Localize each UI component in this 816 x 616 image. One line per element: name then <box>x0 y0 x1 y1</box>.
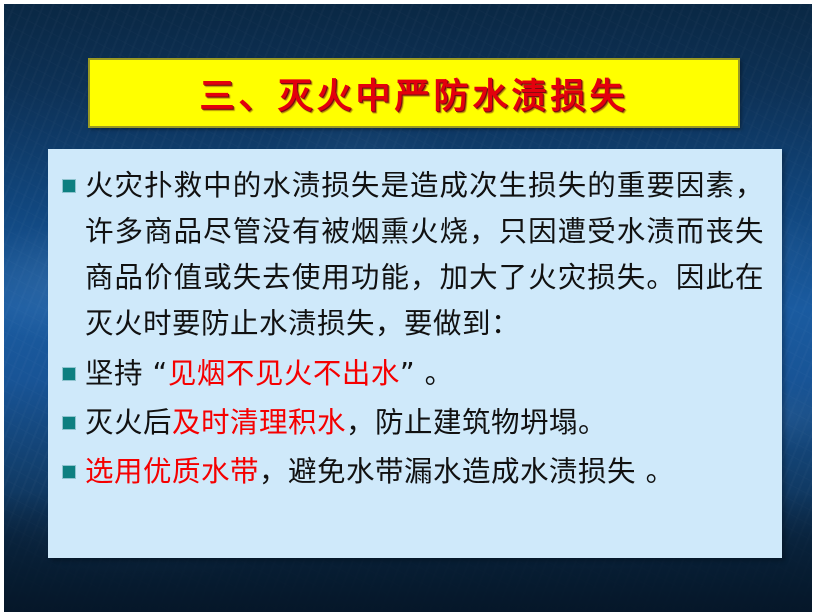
bullet-3-highlight: 及时清理积水 <box>172 406 346 439</box>
presentation-slide: 三、灭火中严防水渍损失 火灾扑救中的水渍损失是造成次生损失的重要因素，许多商品尽… <box>0 0 816 616</box>
bullet-item-3: 灭火后及时清理积水，防止建筑物坍塌。 <box>54 400 764 449</box>
bullet-item-2-text: 坚持 “见烟不见火不出水” 。 <box>85 351 764 397</box>
square-bullet-icon <box>62 367 76 381</box>
bullet-4-suffix: ，避免水带漏水造成水渍损失 。 <box>259 455 675 488</box>
slide-title-banner: 三、灭火中严防水渍损失 <box>88 58 740 128</box>
bullet-3-prefix: 灭火后 <box>85 406 172 439</box>
square-bullet-icon <box>62 465 76 479</box>
slide-content-box: 火灾扑救中的水渍损失是造成次生损失的重要因素，许多商品尽管没有被烟熏火烧，只因遭… <box>48 149 782 558</box>
bullet-2-prefix: 坚持 “ <box>85 357 168 390</box>
bullet-2-suffix: ” 。 <box>400 357 454 390</box>
slide-title: 三、灭火中严防水渍损失 <box>199 68 628 119</box>
bullet-item-4-text: 选用优质水带，避免水带漏水造成水渍损失 。 <box>85 449 764 495</box>
bullet-item-1: 火灾扑救中的水渍损失是造成次生损失的重要因素，许多商品尽管没有被烟熏火烧，只因遭… <box>54 163 764 351</box>
bullet-item-2: 坚持 “见烟不见火不出水” 。 <box>54 351 764 400</box>
bullet-item-1-text: 火灾扑救中的水渍损失是造成次生损失的重要因素，许多商品尽管没有被烟熏火烧，只因遭… <box>85 163 764 347</box>
bullet-4-highlight: 选用优质水带 <box>85 455 259 488</box>
square-bullet-icon <box>62 416 76 430</box>
square-bullet-icon <box>62 179 76 193</box>
bullet-1-paragraph: 火灾扑救中的水渍损失是造成次生损失的重要因素，许多商品尽管没有被烟熏火烧，只因遭… <box>85 169 764 340</box>
bullet-item-3-text: 灭火后及时清理积水，防止建筑物坍塌。 <box>85 400 764 446</box>
bullet-3-suffix: ，防止建筑物坍塌。 <box>346 406 607 439</box>
bullet-2-highlight: 见烟不见火不出水 <box>168 357 400 390</box>
bullet-item-4: 选用优质水带，避免水带漏水造成水渍损失 。 <box>54 449 764 498</box>
